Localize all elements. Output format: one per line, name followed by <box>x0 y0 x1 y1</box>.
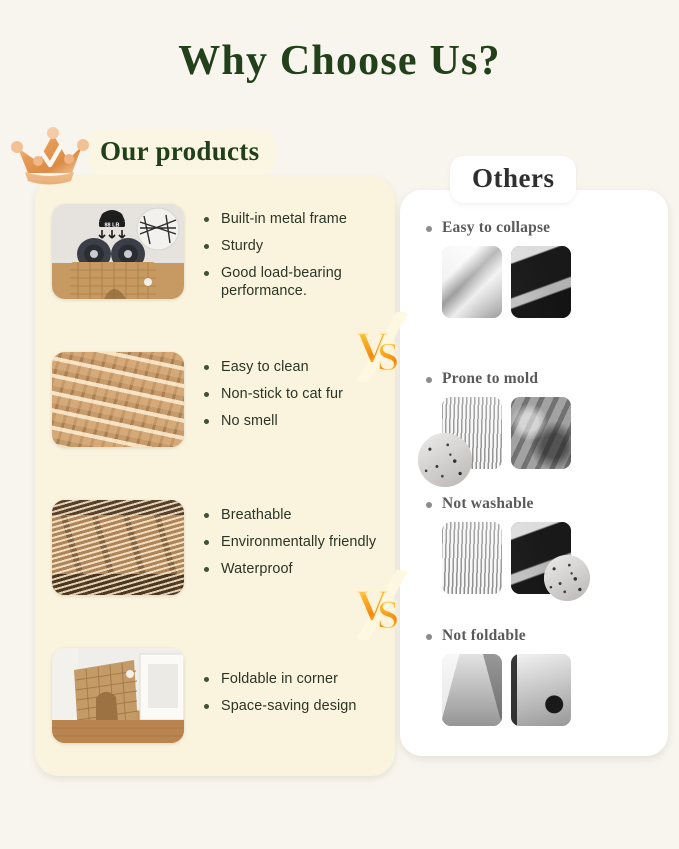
page-title: Why Choose Us? <box>0 37 679 85</box>
list-item: No smell <box>204 412 382 430</box>
vs-badge-icon: V S <box>350 570 412 640</box>
list-item: Space-saving design <box>204 697 382 715</box>
others-item-label: Not washable <box>424 495 654 513</box>
others-item-label: Not foldable <box>424 627 654 645</box>
vs-label: S <box>377 592 399 637</box>
crown-icon <box>8 118 92 194</box>
others-item-label: Easy to collapse <box>424 219 654 237</box>
rigid-gray-box-photo <box>442 654 502 726</box>
product-bullets: Built-in metal frame Sturdy Good load-be… <box>204 204 382 310</box>
list-item: Foldable in corner <box>204 670 382 688</box>
others-image-group <box>424 246 654 318</box>
list-item: Environmentally friendly <box>204 533 382 551</box>
woven-rattan-texture-photo <box>52 352 184 447</box>
others-feature-row: Not washable <box>424 495 654 594</box>
mold-closeup-circle-photo <box>544 555 590 601</box>
others-heading: Others <box>450 156 576 203</box>
others-image-group <box>424 397 654 469</box>
our-products-heading: Our products <box>88 130 275 175</box>
product-feature-row: Breathable Environmentally friendly Wate… <box>52 500 382 595</box>
others-feature-row: Not foldable <box>424 627 654 726</box>
crumpled-fabric-box-photo <box>442 246 502 318</box>
list-item: Sturdy <box>204 237 382 255</box>
weight-badge-label: 88 LB <box>105 223 120 229</box>
others-feature-row: Easy to collapse <box>424 219 654 318</box>
breathable-weave-smoke-photo <box>52 500 184 595</box>
product-feature-row: 88 LB Built-in m <box>52 204 382 310</box>
others-image-group <box>424 522 654 594</box>
product-feature-row: Easy to clean Non-stick to cat fur No sm… <box>52 352 382 447</box>
mold-closeup-circle-photo <box>418 433 472 487</box>
folded-litter-box-corner-photo <box>52 648 184 743</box>
vs-label: S <box>377 334 399 379</box>
others-image-group <box>424 654 654 726</box>
product-bullets: Foldable in corner Space-saving design <box>204 648 382 724</box>
others-item-label: Prone to mold <box>424 370 654 388</box>
basket-with-dumbbells-photo: 88 LB <box>52 204 184 299</box>
list-item: Built-in metal frame <box>204 210 382 228</box>
ribbed-fabric-box-photo <box>442 522 502 594</box>
list-item: Non-stick to cat fur <box>204 385 382 403</box>
mottled-mold-surface-photo <box>511 397 571 469</box>
list-item: Breathable <box>204 506 382 524</box>
rigid-metal-box-photo <box>511 654 571 726</box>
list-item: Good load-bearing performance. <box>204 264 382 300</box>
product-feature-row: Foldable in corner Space-saving design <box>52 648 382 743</box>
vs-badge-icon: V S <box>350 312 412 382</box>
others-feature-row: Prone to mold <box>424 370 654 469</box>
collapsed-dark-box-photo <box>511 246 571 318</box>
